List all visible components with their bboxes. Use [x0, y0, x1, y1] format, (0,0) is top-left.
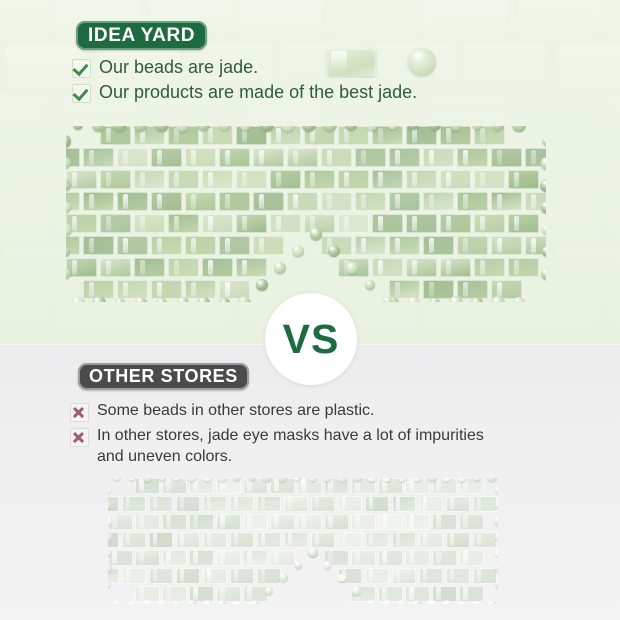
- jade-bead-swatch: [408, 48, 436, 76]
- vs-label: VS: [283, 319, 340, 360]
- idea-yard-bullet-list: Our beads are jade. Our products are mad…: [72, 56, 542, 106]
- mask-weave-surface: [66, 126, 546, 302]
- bullet-text: Some beads in other stores are plastic.: [97, 400, 374, 421]
- badge-idea-yard: IDEA YARD: [76, 21, 207, 50]
- comparison-infographic: IDEA YARD Our beads are jade. Our produc…: [0, 0, 620, 620]
- check-icon: [72, 84, 91, 103]
- x-icon: [70, 428, 89, 447]
- badge-other-stores: OTHER STORES: [78, 363, 249, 390]
- mask-weave-surface: [108, 478, 498, 604]
- list-item: Some beads in other stores are plastic.: [70, 400, 500, 422]
- list-item: In other stores, jade eye masks have a l…: [70, 425, 500, 467]
- vs-badge: VS: [265, 293, 357, 385]
- list-item: Our products are made of the best jade.: [72, 81, 542, 103]
- other-stores-bullet-list: Some beads in other stores are plastic. …: [70, 400, 500, 470]
- bullet-text: In other stores, jade eye masks have a l…: [97, 425, 500, 467]
- bullet-text: Our beads are jade.: [99, 56, 258, 78]
- jade-tile-swatch: [327, 48, 376, 76]
- check-icon: [72, 59, 91, 78]
- x-icon: [70, 403, 89, 422]
- jade-eye-mask-premium: [66, 126, 546, 302]
- jade-eye-mask-other: [108, 478, 498, 604]
- list-item: Our beads are jade.: [72, 56, 542, 78]
- bullet-text: Our products are made of the best jade.: [99, 81, 417, 103]
